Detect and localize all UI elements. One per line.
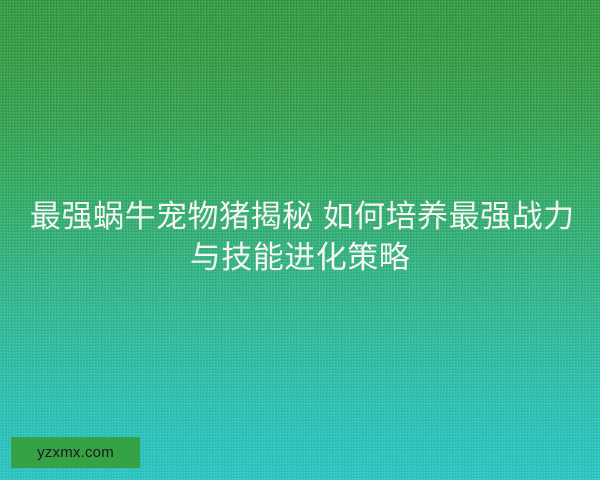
- banner-title: 最强蜗牛宠物猪揭秘 如何培养最强战力 与技能进化策略: [0, 196, 600, 278]
- banner-title-line-2: 与技能进化策略: [30, 237, 570, 278]
- article-banner: 最强蜗牛宠物猪揭秘 如何培养最强战力 与技能进化策略 yzxmx.com: [0, 0, 600, 480]
- site-watermark-label: yzxmx.com: [37, 445, 114, 460]
- site-watermark: yzxmx.com: [11, 437, 140, 468]
- banner-title-line-1: 最强蜗牛宠物猪揭秘 如何培养最强战力: [30, 196, 570, 237]
